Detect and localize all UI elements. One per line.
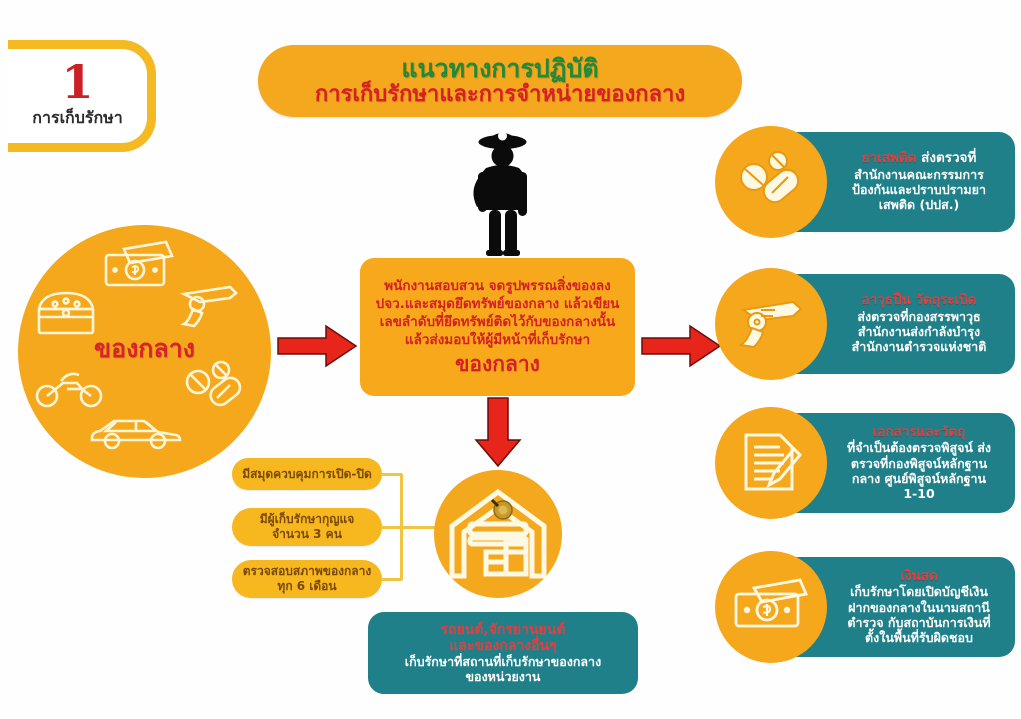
category-head-narcotics: ยาเสพติด ส่งตรวจที่ bbox=[862, 151, 977, 167]
treasure-chest-icon bbox=[31, 287, 101, 343]
category-row-cash[interactable]: เงินสด เก็บรักษาโดยเปิดบัญชีเงิน ฝากของก… bbox=[715, 551, 1015, 663]
seal-stamp bbox=[492, 500, 512, 519]
category-row-documents[interactable]: เอกสารและวัตถุ ที่จำเป็นต้องตรวจพิสูจน์ … bbox=[715, 407, 1015, 519]
revolver-icon bbox=[178, 280, 240, 332]
category-head-documents: เอกสารและวัตถุ bbox=[873, 425, 966, 441]
category-row-narcotics[interactable]: ยาเสพติด ส่งตรวจที่ สำนักงานคณะกรรมการ ป… bbox=[715, 126, 1015, 238]
vehicles-head-line-2: และของกลางอื่นๆ bbox=[449, 638, 556, 654]
vehicles-head-line-1: รถยนต์,จักรยานยนต์ bbox=[441, 622, 566, 638]
connector-to-warehouse bbox=[400, 526, 436, 529]
sub-pill-logbook[interactable]: มีสมุดควบคุมการเปิด-ปิด bbox=[232, 458, 382, 490]
title-banner: แนวทางการปฏิบัติ การเก็บรักษาและการจำหน่… bbox=[258, 45, 742, 117]
warehouse-seal-icon bbox=[446, 484, 550, 584]
arrow-down-red bbox=[474, 396, 522, 472]
vehicles-storage-box: รถยนต์,จักรยานยนต์ และของกลางอื่นๆ เก็บร… bbox=[368, 612, 638, 694]
banknotes-icon bbox=[100, 239, 176, 293]
connector-stub-2 bbox=[381, 526, 402, 529]
infographic-canvas: 1 การเก็บรักษา แนวทางการปฏิบัติ การเก็บร… bbox=[0, 0, 1021, 719]
arrow-right-red-center bbox=[640, 322, 722, 374]
step-badge: 1 การเก็บรักษา bbox=[8, 40, 156, 152]
category-head-firearms: อาวุธปืน วัตถุระเบิด bbox=[862, 293, 977, 309]
category-circle-documents[interactable] bbox=[715, 407, 827, 519]
revolver-icon bbox=[735, 294, 807, 354]
center-line-2: ปจว.และสมุดยึดทรัพย์ของกลาง แล้วเขียน bbox=[376, 296, 620, 314]
center-line-4: แล้วส่งมอบให้ผู้มีหน้าที่เก็บรักษา bbox=[405, 332, 590, 350]
connector-stub-1 bbox=[381, 473, 402, 476]
pills-icon bbox=[183, 360, 245, 418]
title-line-2: การเก็บรักษาและการจำหน่ายของกลาง bbox=[315, 83, 685, 106]
center-emphasis: ของกลาง bbox=[455, 353, 540, 376]
category-desc-cash: เก็บรักษาโดยเปิดบัญชีเงิน ฝากของกลางในนา… bbox=[847, 584, 990, 645]
connector-stub-3 bbox=[381, 578, 402, 581]
sub-pill-keyholders[interactable]: มีผู้เก็บรักษากุญแจ จำนวน 3 คน bbox=[232, 508, 382, 546]
center-line-3: เลขลำดับที่ยึดทรัพย์ติดไว้กับของกลางนั้น bbox=[380, 314, 616, 332]
banknotes-icon bbox=[732, 578, 810, 636]
car-icon bbox=[86, 410, 184, 456]
category-head-suffix-narcotics: ส่งตรวจที่ bbox=[916, 150, 976, 166]
policeman-silhouette-icon bbox=[455, 122, 550, 257]
category-circle-narcotics[interactable] bbox=[715, 126, 827, 238]
category-desc-narcotics: สำนักงานคณะกรรมการ ป้องกันและปราบปรามยา … bbox=[852, 167, 986, 213]
warehouse-circle bbox=[434, 470, 562, 598]
step-number: 1 bbox=[61, 61, 93, 105]
step-caption: การเก็บรักษา bbox=[32, 106, 122, 131]
category-desc-firearms: ส่งตรวจที่กองสรรพาวุธ สำนักงานส่งกำลังบำ… bbox=[852, 309, 987, 355]
document-pen-icon bbox=[738, 427, 804, 499]
category-head-cash: เงินสด bbox=[900, 569, 937, 585]
motorcycle-icon bbox=[33, 365, 105, 413]
title-line-1: แนวทางการปฏิบัติ bbox=[401, 56, 598, 83]
vehicles-desc-line-1: เก็บรักษาที่สถานที่เก็บรักษาของกลาง bbox=[405, 654, 601, 669]
center-line-1: พนักงานสอบสวน จดรูปพรรณสิ่งของลง bbox=[384, 278, 610, 296]
center-instruction-box: พนักงานสอบสวน จดรูปพรรณสิ่งของลง ปจว.และ… bbox=[360, 258, 635, 396]
evidence-circle: ของกลาง bbox=[18, 225, 271, 478]
category-row-firearms[interactable]: อาวุธปืน วัตถุระเบิด ส่งตรวจที่กองสรรพาว… bbox=[715, 268, 1015, 380]
sub-pill-inspection[interactable]: ตรวจสอบสภาพของกลาง ทุก 6 เดือน bbox=[232, 560, 382, 598]
category-circle-cash[interactable] bbox=[715, 551, 827, 663]
category-desc-documents: ที่จำเป็นต้องตรวจพิสูจน์ ส่ง ตรวจที่กองพ… bbox=[847, 440, 991, 501]
pills-icon bbox=[736, 149, 806, 215]
arrow-right-red-left bbox=[276, 322, 358, 374]
category-circle-firearms[interactable] bbox=[715, 268, 827, 380]
vehicles-desc-line-2: ของหน่วยงาน bbox=[466, 669, 541, 684]
